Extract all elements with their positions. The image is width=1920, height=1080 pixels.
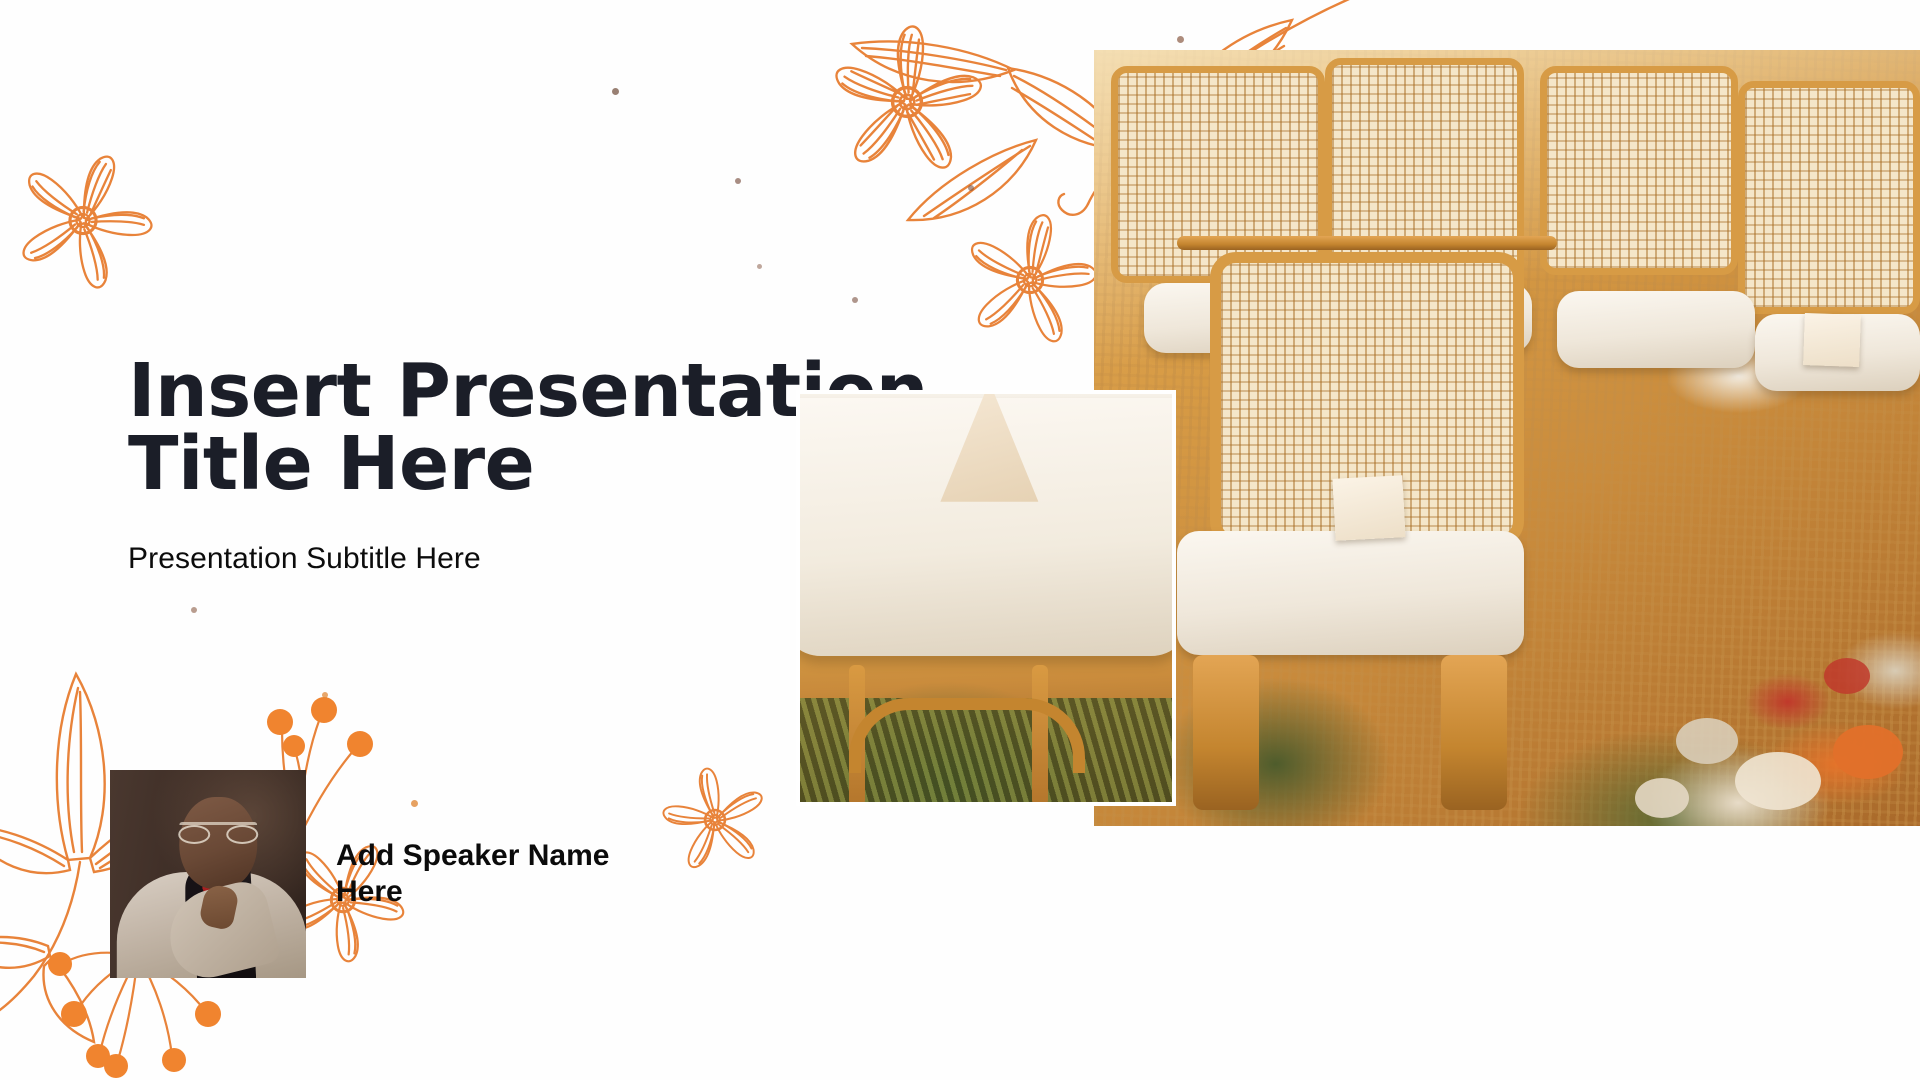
chair-leg — [1441, 655, 1507, 810]
foreground-chair-cushion — [1177, 531, 1524, 655]
secondary-photo-frame — [796, 390, 1176, 806]
speaker-portrait-photo — [110, 770, 306, 978]
flower-bloom — [1735, 752, 1821, 810]
speckle-dot — [1177, 36, 1184, 43]
speckle-dot — [735, 178, 741, 184]
main-photo — [1094, 50, 1920, 826]
place-card — [1332, 475, 1405, 541]
flower-line-art-left — [8, 148, 158, 293]
flower-line-art-bottom-center — [660, 765, 770, 875]
flower-bloom — [1635, 778, 1689, 818]
flower-bloom — [1833, 725, 1903, 779]
speckle-dot — [191, 607, 197, 613]
flower-bloom — [1824, 658, 1870, 694]
glasses-icon — [179, 822, 257, 838]
speckle-dot — [757, 264, 762, 269]
place-card — [1803, 313, 1861, 367]
flower-bloom — [1676, 718, 1738, 764]
chair-back-cane — [1738, 81, 1920, 314]
speaker-name: Add Speaker Name Here — [336, 838, 609, 910]
chair-back-cane — [1111, 66, 1326, 283]
chair-cushion — [1557, 291, 1755, 369]
chair-back-cane — [1540, 66, 1738, 276]
speaker-block: Add Speaker Name Here — [110, 770, 609, 978]
chairs-scene — [1094, 50, 1920, 826]
chair-rail — [1177, 236, 1557, 250]
chair-leg — [1193, 655, 1259, 810]
speckle-dot — [322, 692, 328, 698]
presentation-slide: Insert Presentation Title Here Presentat… — [0, 0, 1920, 1080]
speckle-dot — [612, 88, 619, 95]
photo-collage — [796, 50, 1920, 1080]
